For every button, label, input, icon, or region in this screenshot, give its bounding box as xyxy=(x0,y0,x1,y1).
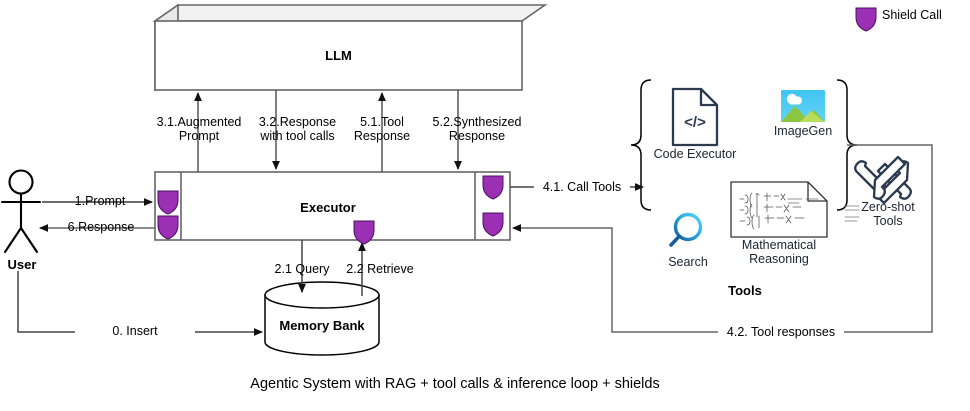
llm-label: LLM xyxy=(155,48,522,63)
legend-label: Shield Call xyxy=(882,8,968,22)
edge-label-1-prompt: 1.Prompt xyxy=(50,194,150,208)
tool-label-imagegen: ImageGen xyxy=(760,124,846,138)
image-picture-icon[interactable] xyxy=(781,90,825,122)
magnifier-icon[interactable] xyxy=(671,215,701,246)
tool-label-search: Search xyxy=(648,255,728,269)
edge-label-6-response: 6.Response xyxy=(48,220,154,234)
edge-label-0-insert: 0. Insert xyxy=(75,324,195,338)
edge-label-2-2-retrieve: 2.2 Retrieve xyxy=(330,262,430,276)
tool-label-code-executor: Code Executor xyxy=(640,147,750,161)
executor-label: Executor xyxy=(181,200,475,215)
user-node[interactable] xyxy=(2,171,40,253)
memory-bank-label: Memory Bank xyxy=(265,318,379,333)
edge-label-5-2-synthesized-response: 5.2.Synthesized Response xyxy=(416,115,538,143)
tool-label-zero-shot-tools: Zero-shot Tools xyxy=(840,200,936,228)
shield-icon-legend xyxy=(856,8,876,31)
user-label: User xyxy=(0,257,44,272)
edge-label-4-2-tool-responses: 4.2. Tool responses xyxy=(718,325,844,339)
diagram-canvas: </> xyxy=(0,0,970,411)
edge-label-4-1-call-tools: 4.1. Call Tools xyxy=(534,180,630,194)
crossed-wrenches-icon[interactable] xyxy=(855,157,911,203)
svg-text:</>: </> xyxy=(684,114,706,131)
edge-0-insert xyxy=(18,271,262,332)
tools-group-label: Tools xyxy=(700,283,790,298)
code-document-icon[interactable]: </> xyxy=(673,89,717,145)
diagram-caption: Agentic System with RAG + tool calls & i… xyxy=(0,376,910,392)
tool-label-mathematical-reasoning: Mathematical Reasoning xyxy=(723,238,835,266)
edge-label-5-1-tool-response: 5.1.Tool Response xyxy=(340,115,424,143)
